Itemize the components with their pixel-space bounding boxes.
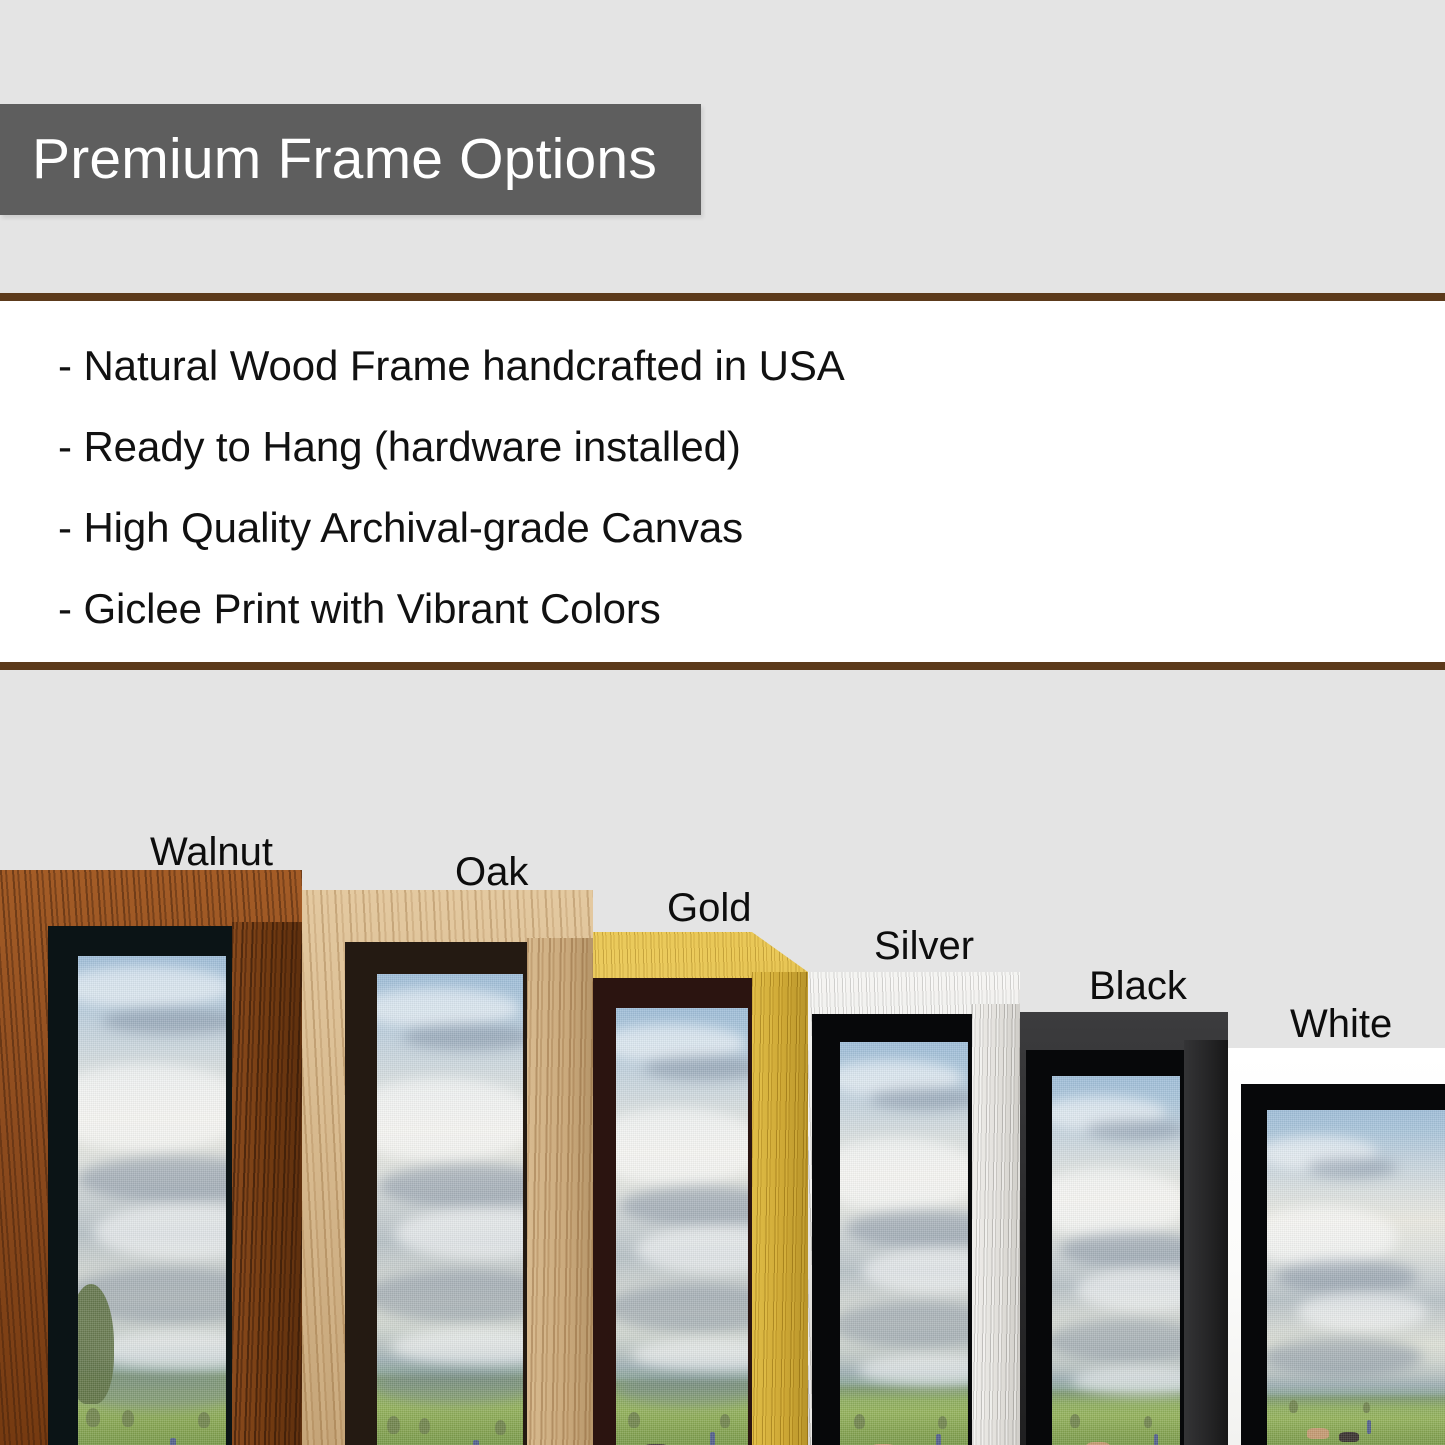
- frame-label-silver: Silver: [874, 926, 974, 966]
- walnut-moulding-bevel: [232, 922, 302, 1445]
- gold-moulding-bevel: [752, 972, 808, 1445]
- silver-canvas: [840, 1042, 968, 1445]
- feature-item-2: - Ready to Hang (hardware installed): [58, 426, 1445, 468]
- frame-label-walnut: Walnut: [150, 832, 273, 872]
- frame-label-oak: Oak: [455, 852, 528, 892]
- frame-black[interactable]: [988, 1012, 1228, 1445]
- silver-moulding-bevel: [972, 1004, 1020, 1445]
- frame-walnut[interactable]: [0, 870, 302, 1445]
- frame-white[interactable]: [1205, 1048, 1445, 1445]
- frames-showcase: Walnut Oak Gold Silver Black White: [0, 670, 1445, 1445]
- header-banner: Premium Frame Options: [0, 104, 701, 215]
- black-canvas: [1052, 1076, 1180, 1445]
- page-title: Premium Frame Options: [0, 131, 657, 188]
- frame-label-white: White: [1290, 1004, 1392, 1044]
- feature-item-3: - High Quality Archival-grade Canvas: [58, 507, 1445, 549]
- oak-canvas: [377, 974, 523, 1445]
- feature-item-4: - Giclee Print with Vibrant Colors: [58, 588, 1445, 630]
- frame-oak[interactable]: [293, 890, 593, 1445]
- frame-label-black: Black: [1089, 966, 1187, 1006]
- frame-label-gold: Gold: [667, 888, 752, 928]
- feature-item-1: - Natural Wood Frame handcrafted in USA: [58, 345, 1445, 387]
- oak-moulding-bevel: [527, 938, 593, 1445]
- frame-options-image: Premium Frame Options - Natural Wood Fra…: [0, 0, 1445, 1445]
- gold-canvas: [616, 1008, 748, 1445]
- features-panel: - Natural Wood Frame handcrafted in USA …: [0, 293, 1445, 670]
- walnut-canvas: [78, 956, 226, 1445]
- white-canvas: [1267, 1110, 1445, 1445]
- black-moulding-bevel: [1184, 1040, 1228, 1445]
